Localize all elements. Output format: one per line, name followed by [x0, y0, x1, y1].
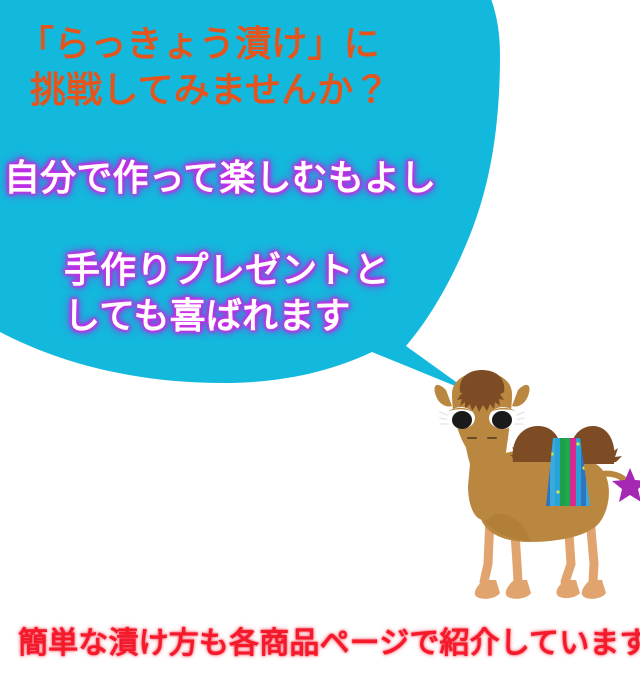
camel-eye-left	[447, 407, 475, 429]
camel-ear-right	[512, 385, 530, 407]
promo-banner: 「らっきょう漬け」に 挑戦してみませんか？ 自分で作って楽しむもよし 手作りプレ…	[0, 0, 640, 678]
body-line-2: 手作りプレゼントと	[64, 252, 390, 288]
camel-illustration	[418, 368, 640, 616]
camel-hoof-back-right	[582, 580, 606, 599]
headline-line-1: 「らっきょう漬け」に	[18, 26, 380, 62]
camel-ear-left	[434, 385, 452, 407]
footer-caption: 簡単な漬け方も各商品ページで紹介しています	[18, 618, 640, 662]
camel-hoof-front-right	[506, 580, 531, 599]
body-line-3: しても喜ばれます	[64, 298, 351, 334]
body-line-1: 自分で作って楽しむもよし	[4, 160, 436, 196]
camel-hoof-back-left	[556, 580, 580, 598]
speech-bubble-shape	[0, 0, 500, 392]
camel-hoof-front-left	[475, 580, 500, 599]
headline-line-2: 挑戦してみませんか？	[30, 72, 390, 108]
camel-eye-right	[489, 407, 517, 429]
